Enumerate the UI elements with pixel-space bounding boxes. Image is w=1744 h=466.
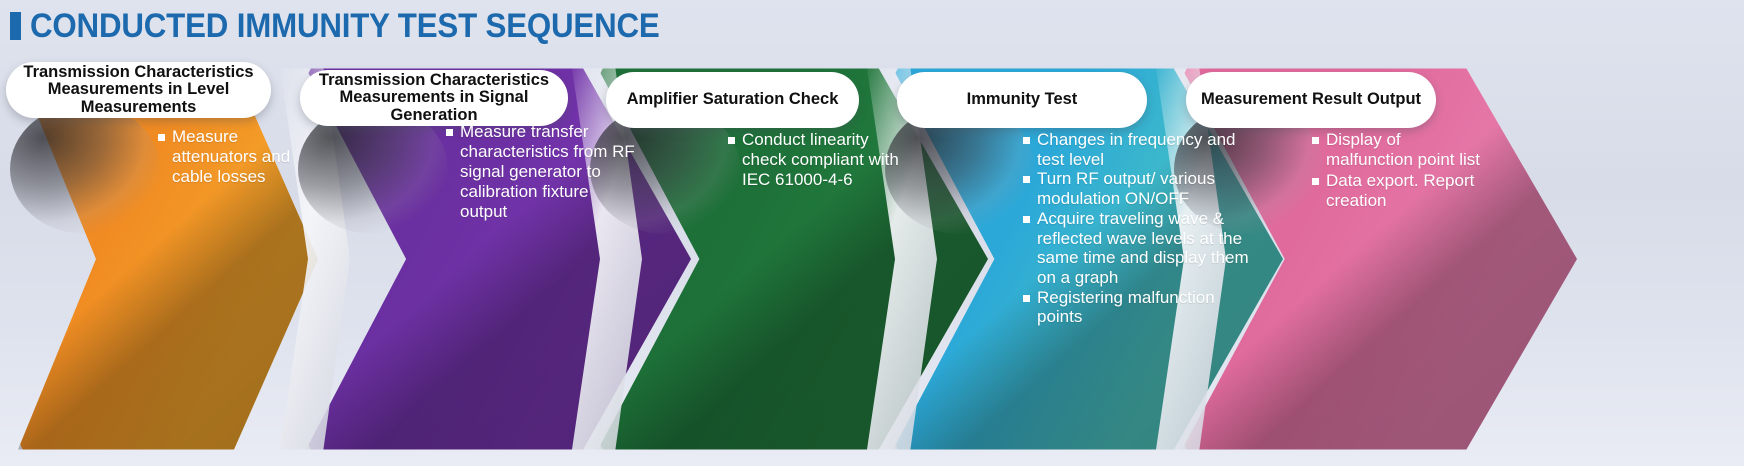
bullet-item: Conduct linearity check compliant with I… [728,130,908,190]
bullet-item: Measure attenuators and cable losses [158,127,298,187]
bullet-item: Measure transfer characteristics from RF… [446,122,636,222]
bullet-item: Registering malfunction points [1023,288,1263,327]
step-title-pill-3[interactable]: Amplifier Saturation Check [606,72,859,128]
step-title-pill-2[interactable]: Transmission Characteristics Measurement… [300,70,568,126]
process-flow-diagram: Transmission Characteristics Measurement… [0,52,1744,466]
step-title-pill-4[interactable]: Immunity Test [897,72,1147,128]
step-title-text-5: Measurement Result Output [1187,91,1435,108]
step-title-text-2: Transmission Characteristics Measurement… [300,72,568,124]
page-header: CONDUCTED IMMUNITY TEST SEQUENCE [0,0,1744,52]
page-title: CONDUCTED IMMUNITY TEST SEQUENCE [30,7,660,46]
step-bullets-1: Measure attenuators and cable losses [158,127,298,188]
step-title-text-1: Transmission Characteristics Measurement… [6,64,271,116]
bullet-item: Data export. Report creation [1312,171,1482,211]
flow-step-1[interactable]: Transmission Characteristics Measurement… [18,52,318,466]
step-title-text-3: Amplifier Saturation Check [613,91,853,108]
title-square-marker-icon [10,12,21,40]
step-bullets-4: Changes in frequency and test level Turn… [1023,130,1263,327]
bullet-item: Changes in frequency and test level [1023,130,1263,169]
step-title-pill-1[interactable]: Transmission Characteristics Measurement… [6,62,271,118]
step-bullets-2: Measure transfer characteristics from RF… [446,122,636,223]
bullet-item: Acquire traveling wave & reflected wave … [1023,209,1263,288]
bullet-item: Turn RF output/ various modulation ON/OF… [1023,169,1263,208]
bullet-item: Display of malfunction point list [1312,130,1482,170]
step-title-text-4: Immunity Test [953,91,1092,108]
step-bullets-3: Conduct linearity check compliant with I… [728,130,908,191]
step-title-pill-5[interactable]: Measurement Result Output [1186,72,1436,128]
step-bullets-5: Display of malfunction point list Data e… [1312,130,1482,212]
